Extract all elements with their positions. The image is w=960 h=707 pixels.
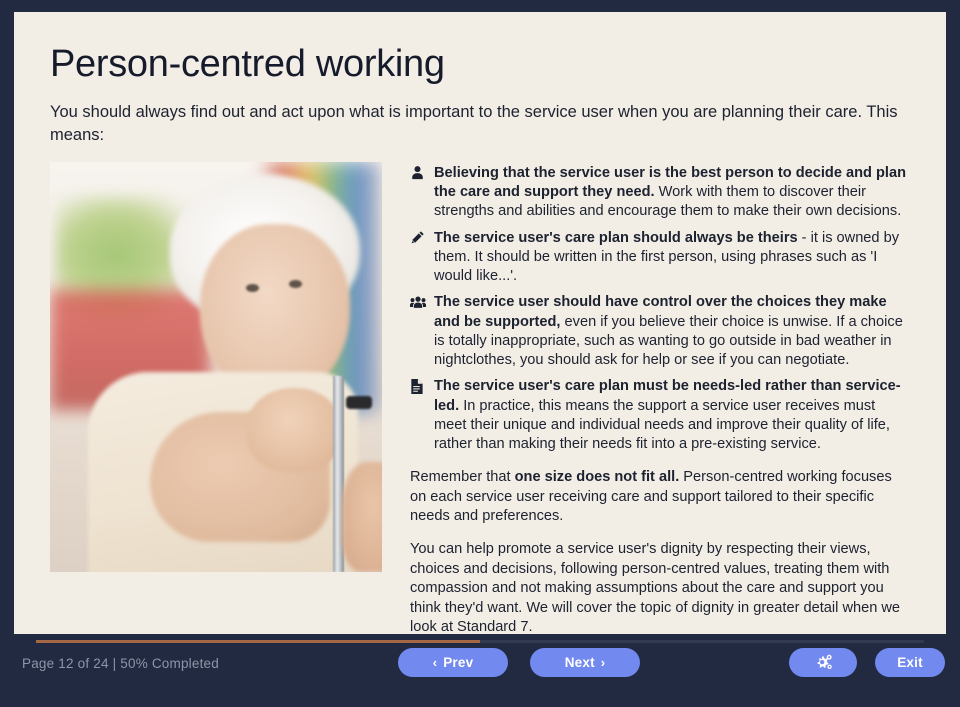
page-status-text: Page 12 of 24 | 50% Completed: [22, 656, 219, 671]
list-item: The service user's care plan must be nee…: [410, 377, 910, 454]
bullet-lead: The service user's care plan should alwa…: [434, 230, 798, 246]
photo-hand: [246, 388, 342, 472]
settings-button[interactable]: [789, 648, 857, 677]
remember-paragraph: Remember that one size does not fit all.…: [410, 468, 910, 527]
bullet-rest: In practice, this means the support a se…: [434, 398, 890, 453]
prev-button-label: Prev: [443, 655, 473, 670]
list-item: The service user's care plan should alwa…: [410, 229, 910, 287]
progress-track: [36, 640, 924, 643]
pencil-icon: [410, 230, 427, 246]
page-title: Person-centred working: [50, 44, 910, 85]
text-column: Believing that the service user is the b…: [410, 162, 910, 634]
dignity-paragraph: You can help promote a service user's di…: [410, 540, 910, 634]
list-item: The service user should have control ove…: [410, 293, 910, 370]
file-icon: [410, 378, 427, 394]
prev-button[interactable]: ‹ Prev: [398, 648, 508, 677]
navigation-buttons: ‹ Prev Next ›: [398, 648, 640, 677]
photo-second-hand: [342, 462, 382, 572]
slide-card: Person-centred working You should always…: [14, 12, 946, 634]
photo-eye-left: [246, 284, 259, 292]
list-item: Believing that the service user is the b…: [410, 164, 910, 222]
users-icon: [410, 294, 427, 310]
exit-button[interactable]: Exit: [875, 648, 945, 677]
utility-buttons: Exit: [789, 648, 945, 677]
paragraph-pre: Remember that: [410, 469, 515, 485]
slide-intro-text: You should always find out and act upon …: [50, 101, 910, 148]
photo-column: [50, 162, 382, 572]
footer-bar: Page 12 of 24 | 50% Completed ‹ Prev Nex…: [0, 645, 960, 707]
bullet-list: Believing that the service user is the b…: [410, 164, 910, 455]
next-button[interactable]: Next ›: [530, 648, 640, 677]
user-icon: [410, 165, 427, 181]
cogs-icon: [814, 654, 833, 671]
presentation-viewport: Person-centred working You should always…: [0, 0, 960, 707]
photo-eye-right: [289, 280, 302, 288]
next-button-label: Next: [565, 655, 595, 670]
elderly-woman-photo: [50, 162, 382, 572]
slide-body: Believing that the service user is the b…: [50, 162, 910, 634]
paragraph-emphasis: one size does not fit all.: [515, 469, 680, 485]
chevron-right-icon: ›: [601, 656, 606, 669]
photo-wristwatch: [346, 396, 372, 409]
chevron-left-icon: ‹: [433, 656, 438, 669]
exit-button-label: Exit: [897, 655, 923, 670]
progress-fill: [36, 640, 480, 643]
